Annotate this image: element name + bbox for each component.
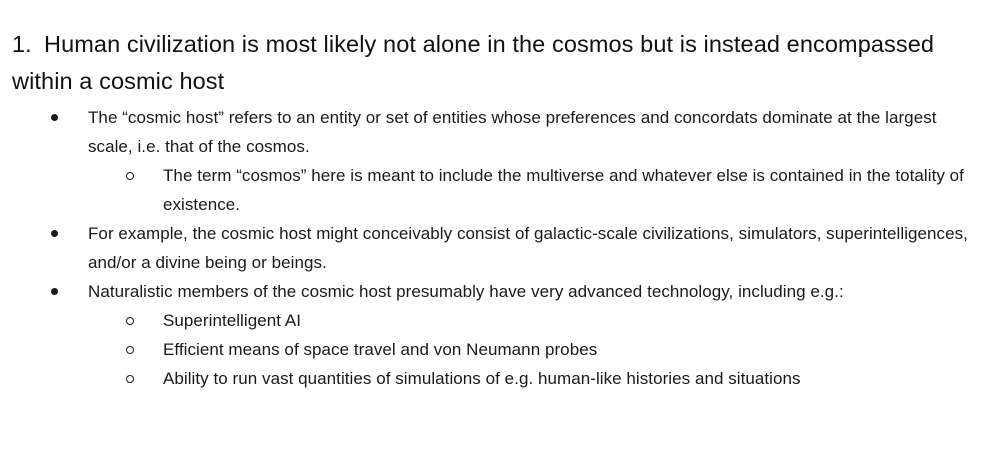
bullet-circle-icon [126,364,140,393]
heading-text: Human civilization is most likely not al… [12,31,934,94]
list-item: The term “cosmos” here is meant to inclu… [0,161,987,219]
list-item: Naturalistic members of the cosmic host … [0,277,987,306]
list-item: Ability to run vast quantities of simula… [0,364,987,393]
list-item-text: Naturalistic members of the cosmic host … [88,277,979,306]
page-title: 1.Human civilization is most likely not … [12,26,962,100]
list-item: The “cosmic host” refers to an entity or… [0,103,987,161]
list-item: For example, the cosmic host might conce… [0,219,987,277]
list-item-text: Ability to run vast quantities of simula… [163,364,979,393]
list-item: Superintelligent AI [0,306,987,335]
bullet-circle-icon [126,306,140,335]
list-item-text: For example, the cosmic host might conce… [88,219,979,277]
list-item-text: Efficient means of space travel and von … [163,335,979,364]
bullet-disc-icon [51,219,65,248]
bullet-list: The “cosmic host” refers to an entity or… [0,103,987,393]
document-page: 1.Human civilization is most likely not … [0,0,987,460]
list-item: Efficient means of space travel and von … [0,335,987,364]
list-item-text: Superintelligent AI [163,306,979,335]
bullet-disc-icon [51,103,65,132]
bullet-circle-icon [126,161,140,190]
list-item-text: The “cosmic host” refers to an entity or… [88,103,979,161]
bullet-disc-icon [51,277,65,306]
heading-number: 1. [12,26,44,63]
bullet-circle-icon [126,335,140,364]
list-item-text: The term “cosmos” here is meant to inclu… [163,161,979,219]
